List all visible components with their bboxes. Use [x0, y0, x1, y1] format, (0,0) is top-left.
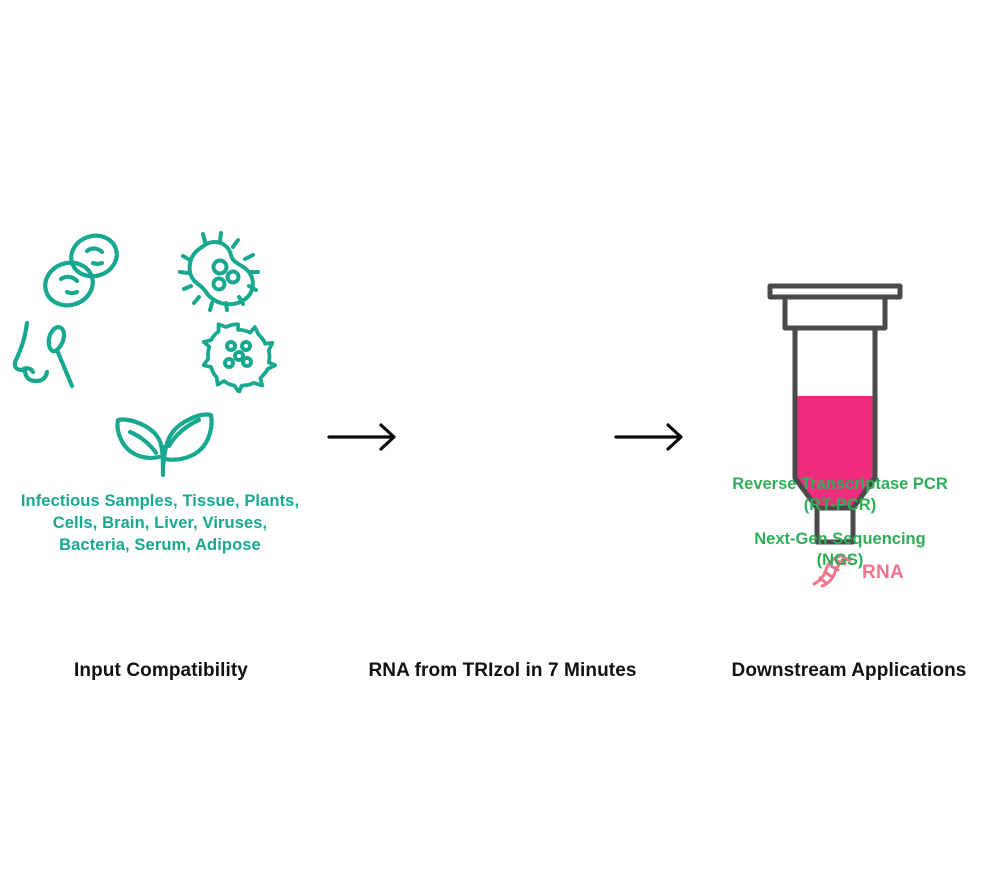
blood-cells-icon	[38, 231, 124, 318]
application-rtpcr-line1: Reverse Transcriptase PCR	[690, 474, 990, 495]
nasal-swab-icon	[10, 317, 86, 404]
application-rtpcr-line2: (RT-PCR)	[690, 495, 990, 516]
caption-input: Input Compatibility	[0, 660, 322, 682]
input-sample-types: Infectious Samples, Tissue, Plants, Cell…	[0, 490, 320, 556]
plant-leaves-icon	[108, 383, 218, 484]
application-ngs-line1: Next-Gen Sequencing	[690, 529, 990, 550]
workflow-diagram: Infectious Samples, Tissue, Plants, Cell…	[0, 0, 1000, 875]
bacteria-icon	[176, 231, 262, 318]
input-sample-line-2: Cells, Brain, Liver, Viruses,	[0, 512, 320, 534]
output-column: Reverse Transcriptase PCR (RT-PCR) Next-…	[675, 0, 1000, 875]
application-ngs-line2: (NGS)	[690, 550, 990, 571]
input-sample-line-1: Infectious Samples, Tissue, Plants,	[0, 490, 320, 512]
output-applications: Reverse Transcriptase PCR (RT-PCR) Next-…	[690, 474, 990, 571]
input-sample-line-3: Bacteria, Serum, Adipose	[0, 534, 320, 556]
input-icon-cluster	[10, 225, 320, 480]
input-column: Infectious Samples, Tissue, Plants, Cell…	[0, 0, 330, 875]
caption-process: RNA from TRIzol in 7 Minutes	[330, 660, 675, 682]
caption-output: Downstream Applications	[688, 660, 1000, 682]
